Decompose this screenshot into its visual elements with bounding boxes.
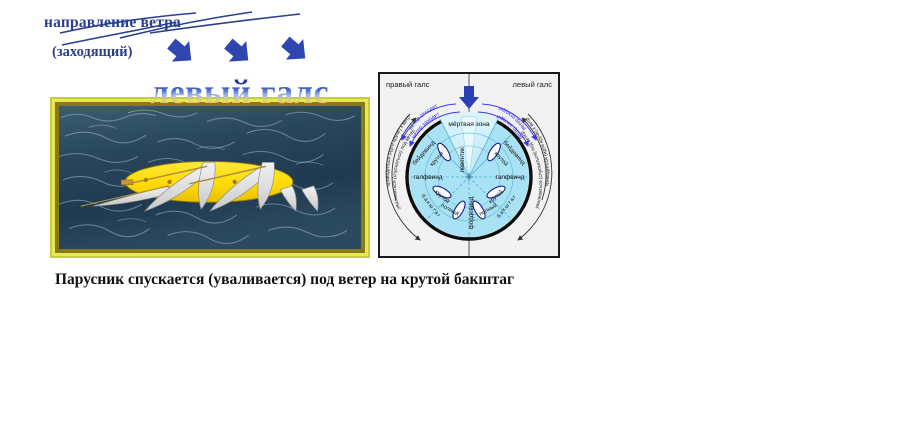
label-beam-reach-right: галфвинд	[496, 174, 525, 181]
slide-canvas: направление ветра (заходящий) левый галс	[0, 0, 921, 430]
label-irons: левентик	[460, 147, 466, 173]
caption-text: Парусник спускается (уваливается) под ве…	[55, 271, 514, 289]
wind-shift-label: (заходящий)	[52, 44, 132, 61]
points-of-sail-svg: правый галс левый галс	[380, 74, 558, 256]
page-title: левый галс	[150, 76, 329, 110]
points-of-sail-diagram: правый галс левый галс	[378, 72, 560, 258]
wind-arrow-icon-1	[163, 33, 200, 70]
wind-arrow-icon-2	[220, 33, 257, 70]
label-starboard-tack: правый галс	[386, 80, 430, 89]
sailboat-photo	[55, 102, 365, 253]
label-port-tack: левый галс	[512, 80, 552, 89]
sailboat-photo-frame	[50, 97, 370, 258]
label-dead-zone: мёртвая зона	[448, 121, 489, 128]
wind-direction-label: направление ветра	[44, 14, 181, 32]
wind-arrow-icon-3	[277, 31, 314, 68]
sea-background	[59, 106, 361, 249]
label-run: фордевинд	[468, 196, 475, 229]
label-beam-reach-left: галфвинд	[414, 174, 443, 181]
transom	[121, 180, 133, 185]
